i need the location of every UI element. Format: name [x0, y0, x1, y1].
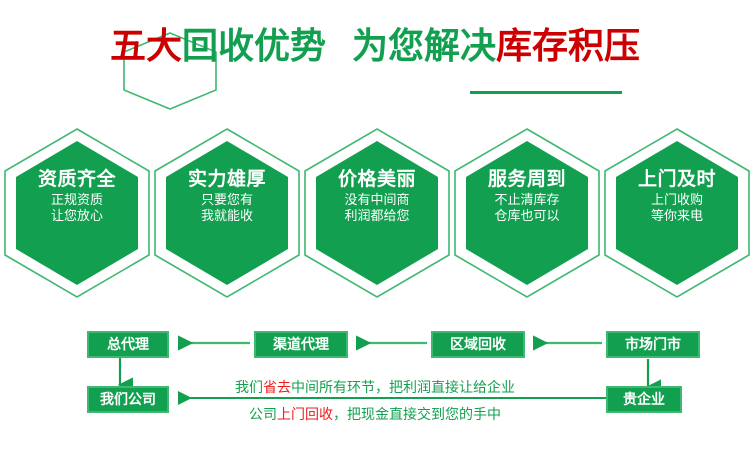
- title-part-3: 为您解决: [352, 25, 496, 66]
- flow-diagram: 总代理 渠道代理 区域回收 市场门市 我们公司 贵企业 我们省去中间所有环节，把…: [0, 315, 750, 440]
- advantage-hexagon-5[interactable]: 上门及时 上门收购 等你来电: [602, 120, 750, 305]
- flow-box-regional-recycle[interactable]: 区域回收: [431, 331, 525, 358]
- caption1-seg1: 我们: [235, 379, 263, 395]
- advantage-hexagon-2[interactable]: 实力雄厚 只要您有 我就能收: [152, 120, 302, 305]
- page-title: 五大回收优势为您解决库存积压: [0, 18, 750, 100]
- caption2-seg3: ，把现金直接交到您的手中: [333, 406, 501, 422]
- advantage-title: 实力雄厚: [152, 168, 302, 192]
- title-underline: [470, 91, 622, 94]
- caption2-seg1: 公司: [249, 406, 277, 422]
- advantage-line-2: 让您放心: [2, 208, 152, 224]
- advantage-line-2: 仓库也可以: [452, 208, 602, 224]
- promo-banner: 五大回收优势为您解决库存积压 资质齐全 正规资质 让您放心 实力雄厚 只要您有: [0, 0, 750, 453]
- advantage-line-1: 正规资质: [2, 192, 152, 208]
- advantage-line-1: 不止清库存: [452, 192, 602, 208]
- advantage-hexagon-1[interactable]: 资质齐全 正规资质 让您放心: [2, 120, 152, 305]
- advantage-line-2: 我就能收: [152, 208, 302, 224]
- advantage-line-1: 没有中间商: [302, 192, 452, 208]
- advantages-row: 资质齐全 正规资质 让您放心 实力雄厚 只要您有 我就能收 价格美丽: [0, 120, 750, 305]
- title-part-4: 库存积压: [496, 25, 640, 66]
- advantage-hexagon-4[interactable]: 服务周到 不止清库存 仓库也可以: [452, 120, 602, 305]
- advantage-line-1: 只要您有: [152, 192, 302, 208]
- flow-box-market-store[interactable]: 市场门市: [606, 331, 700, 358]
- advantage-title: 上门及时: [602, 168, 750, 192]
- flow-caption-1: 我们省去中间所有环节，把利润直接让给企业: [0, 377, 750, 397]
- caption1-seg2: 省去: [263, 379, 291, 395]
- advantage-text-1: 资质齐全 正规资质 让您放心: [2, 168, 152, 224]
- flow-caption-2: 公司上门回收，把现金直接交到您的手中: [0, 404, 750, 424]
- page-title-text: 五大回收优势为您解决库存积压: [0, 18, 750, 74]
- advantage-hexagon-3[interactable]: 价格美丽 没有中间商 利润都给您: [302, 120, 452, 305]
- advantage-text-4: 服务周到 不止清库存 仓库也可以: [452, 168, 602, 224]
- title-part-1: 五大: [110, 25, 182, 66]
- flow-box-channel-agent[interactable]: 渠道代理: [254, 331, 348, 358]
- caption1-seg3: 中间所有环节，把利润直接让给企业: [291, 379, 515, 395]
- advantage-title: 价格美丽: [302, 168, 452, 192]
- caption2-seg2: 上门回收: [277, 406, 333, 422]
- advantage-title: 服务周到: [452, 168, 602, 192]
- advantage-text-5: 上门及时 上门收购 等你来电: [602, 168, 750, 224]
- advantage-line-2: 利润都给您: [302, 208, 452, 224]
- flow-box-general-agent[interactable]: 总代理: [87, 331, 169, 358]
- title-part-2: 回收优势: [182, 25, 326, 66]
- advantage-line-2: 等你来电: [602, 208, 750, 224]
- advantage-text-3: 价格美丽 没有中间商 利润都给您: [302, 168, 452, 224]
- advantage-line-1: 上门收购: [602, 192, 750, 208]
- advantage-text-2: 实力雄厚 只要您有 我就能收: [152, 168, 302, 224]
- advantage-title: 资质齐全: [2, 168, 152, 192]
